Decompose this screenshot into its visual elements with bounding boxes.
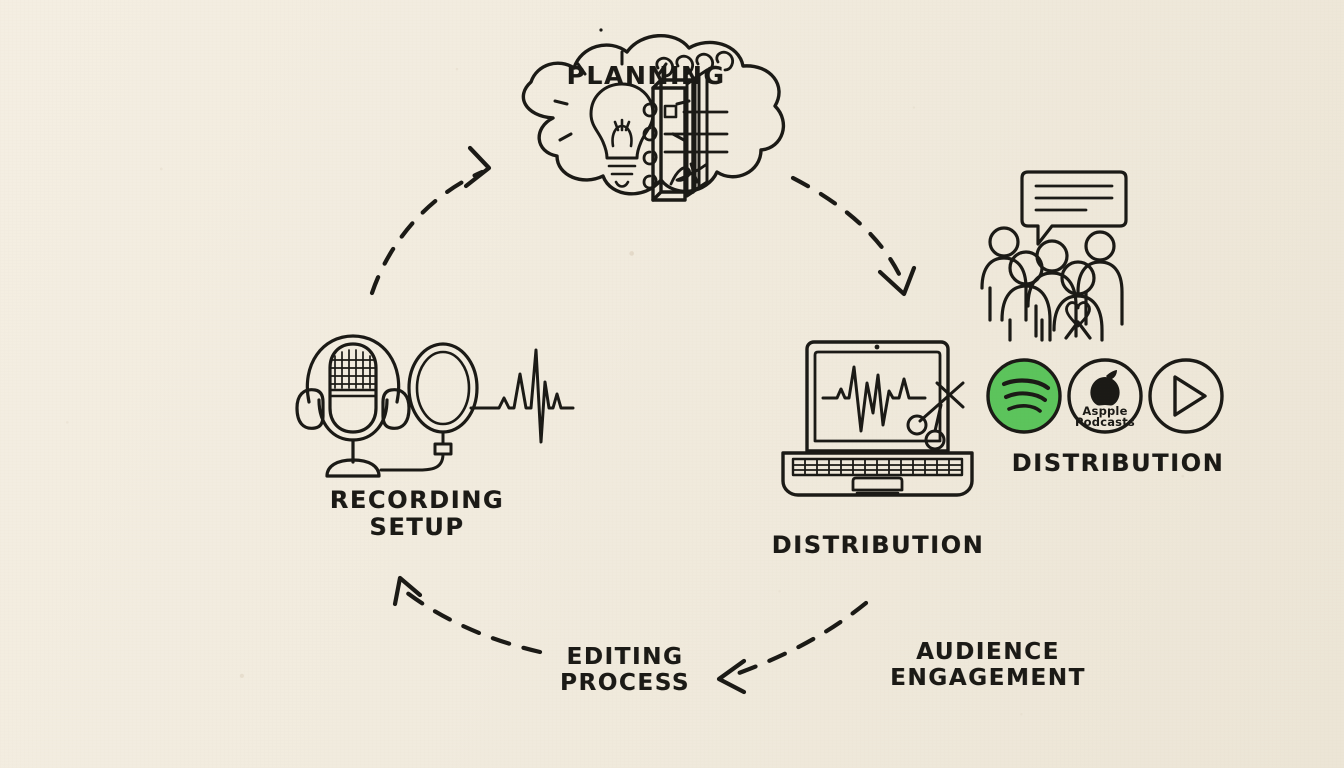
- label-laptop-distribution: DISTRIBUTION: [772, 532, 985, 559]
- arrow-planning-to-distribution: [793, 178, 914, 294]
- label-platform-distribution: DISTRIBUTION: [1012, 450, 1225, 477]
- label-audience-engagement: AUDIENCE ENGAGEMENT: [890, 640, 1086, 692]
- spotify-icon[interactable]: [988, 360, 1060, 432]
- webcam-dot: [875, 345, 880, 350]
- arrow-recording-to-planning: [372, 148, 489, 293]
- node-laptop-distribution[interactable]: [765, 335, 990, 515]
- node-platform-distribution[interactable]: Aspple Podcasts: [986, 356, 1226, 438]
- label-recording-setup: RECORDING SETUP: [330, 487, 504, 541]
- arrow-audience-to-editing: [719, 603, 866, 692]
- play-button-icon[interactable]: [1150, 360, 1222, 432]
- diagram-canvas: PLANNING: [0, 0, 1344, 768]
- label-planning: PLANNING: [567, 62, 726, 90]
- microphone-icon: [319, 344, 387, 476]
- apple-podcasts-icon[interactable]: Aspple Podcasts: [1069, 360, 1141, 432]
- headphones-icon: [297, 336, 409, 428]
- node-planning[interactable]: [495, 30, 795, 205]
- speech-bubble-icon: [1022, 172, 1126, 244]
- arrow-editing-to-recording: [395, 578, 540, 652]
- waveform-icon: [471, 350, 573, 442]
- people-group-icon: [982, 228, 1122, 340]
- laptop-icon: [783, 342, 972, 495]
- node-recording-setup[interactable]: [295, 330, 565, 480]
- decoration-audience-group: [960, 160, 1140, 340]
- scissors-icon: [908, 383, 963, 449]
- apple-podcasts-label-line2: Podcasts: [1075, 415, 1135, 429]
- label-editing-process: EDITING PROCESS: [560, 645, 690, 697]
